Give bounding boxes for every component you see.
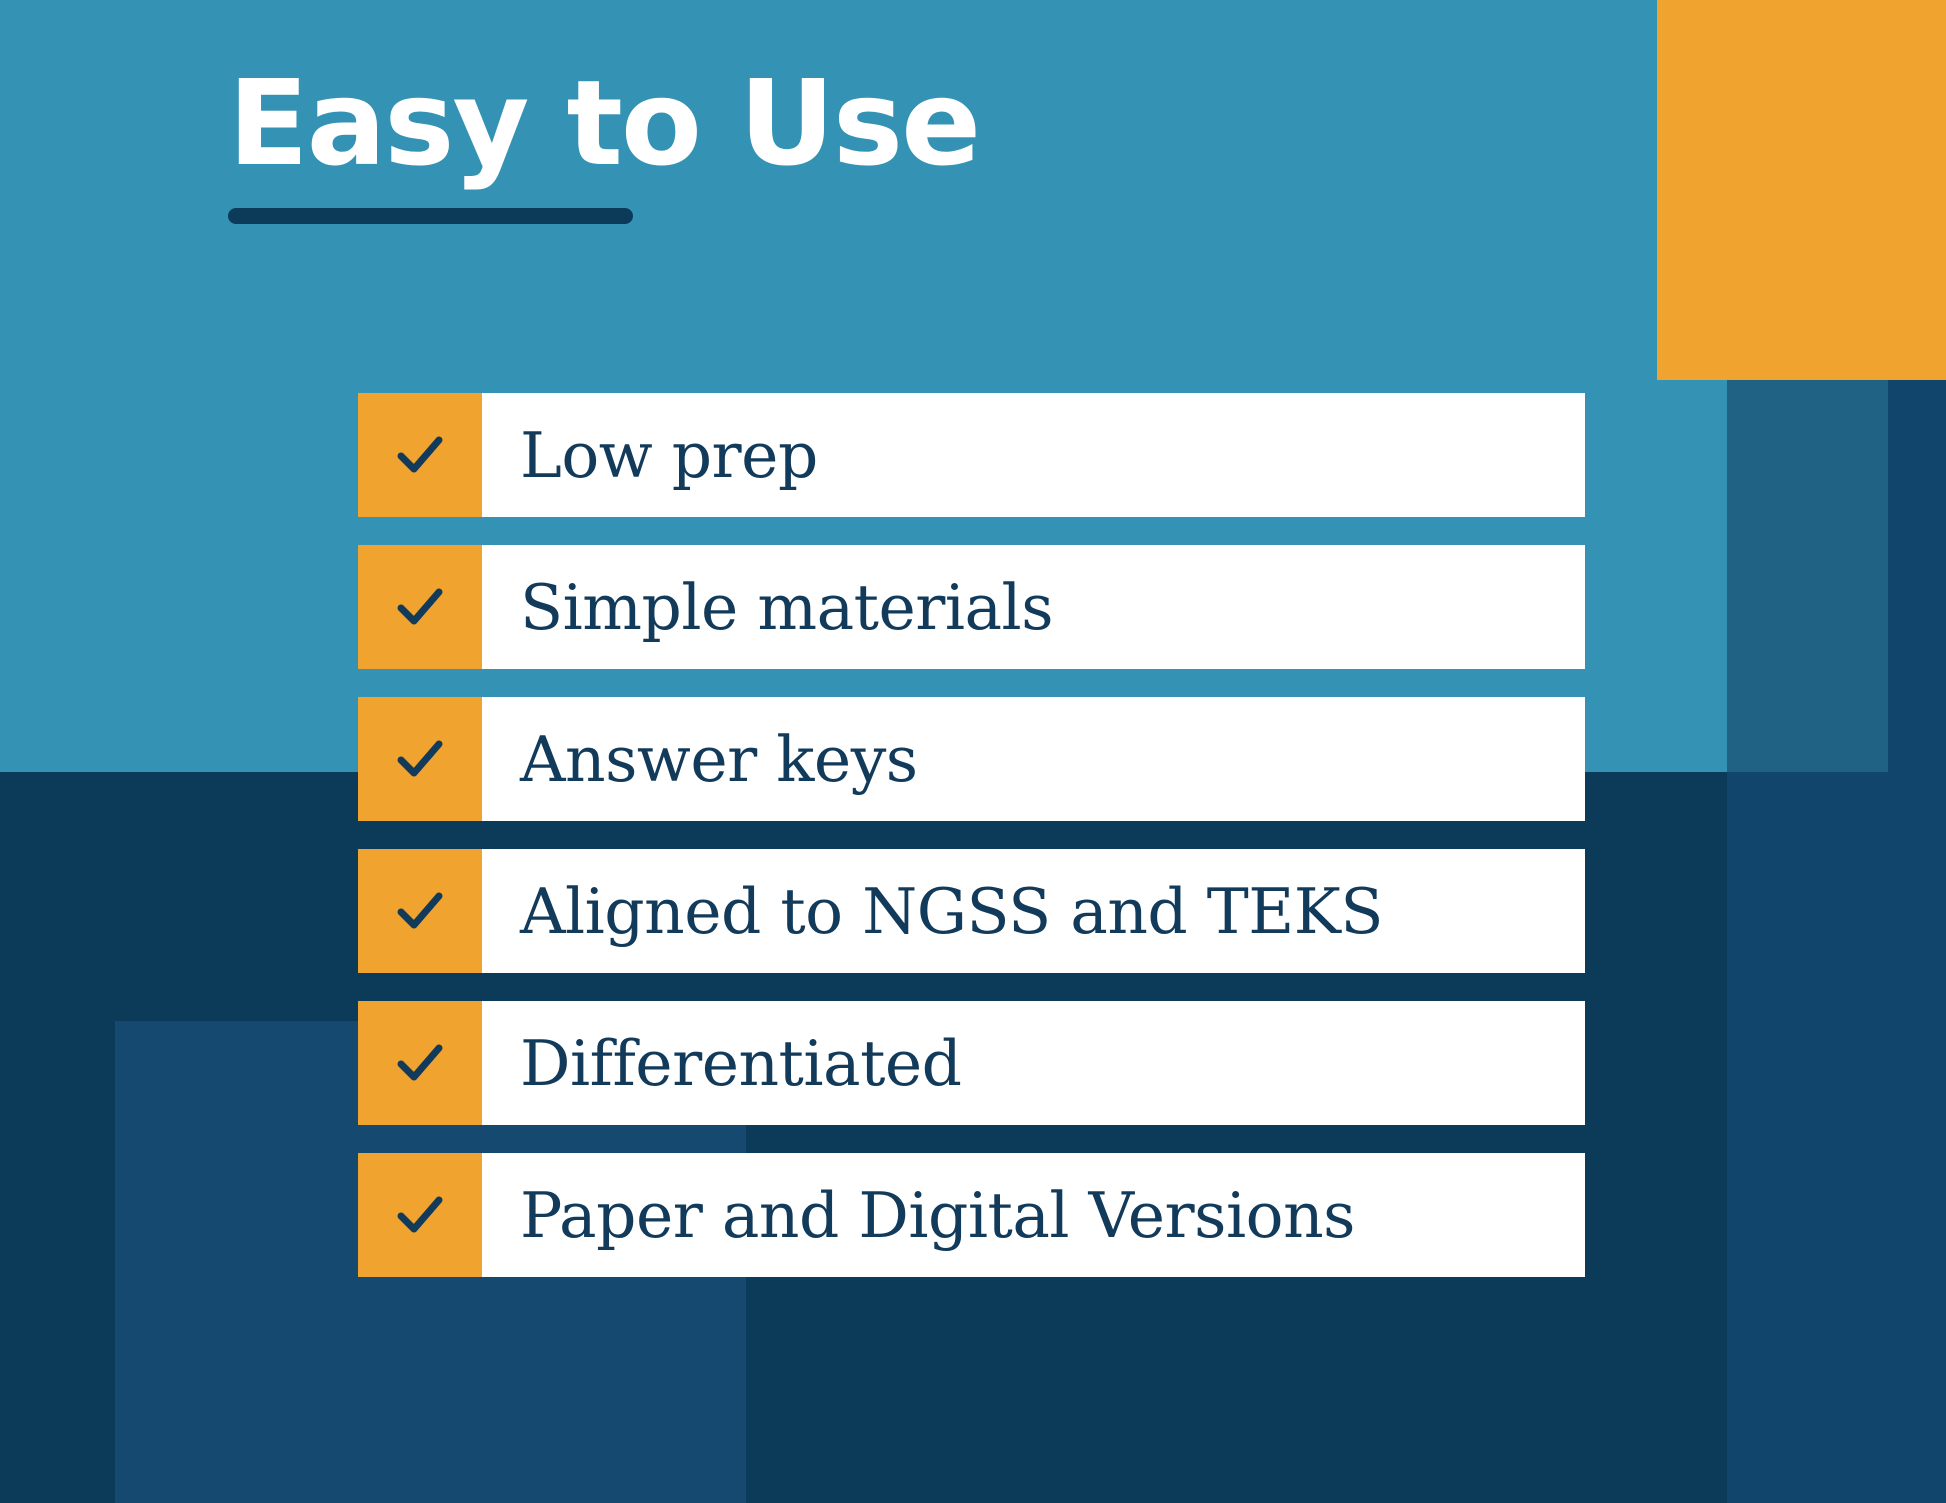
list-item[interactable]: Differentiated — [358, 1001, 1585, 1125]
checkmark-icon — [358, 545, 482, 669]
list-item[interactable]: Low prep — [358, 393, 1585, 517]
title-underline-rule — [228, 208, 633, 224]
list-item[interactable]: Answer keys — [358, 697, 1585, 821]
checkmark-icon — [358, 393, 482, 517]
list-item-label: Low prep — [482, 393, 1585, 517]
list-item-label: Simple materials — [482, 545, 1585, 669]
list-item[interactable]: Simple materials — [358, 545, 1585, 669]
background-navy-right-column — [1888, 380, 1946, 1503]
checklist: Low prep Simple materials Answer keys — [358, 393, 1585, 1277]
list-item-label: Paper and Digital Versions — [482, 1153, 1585, 1277]
page-title: Easy to Use — [228, 62, 1428, 186]
list-item[interactable]: Paper and Digital Versions — [358, 1153, 1585, 1277]
poster-canvas: Easy to Use Low prep Simple materials — [0, 0, 1946, 1503]
checkmark-icon — [358, 849, 482, 973]
checkmark-icon — [358, 1153, 482, 1277]
checkmark-icon — [358, 1001, 482, 1125]
list-item-label: Aligned to NGSS and TEKS — [482, 849, 1585, 973]
list-item-label: Answer keys — [482, 697, 1585, 821]
background-orange-corner — [1657, 0, 1946, 380]
background-midblue-block — [1727, 380, 1888, 772]
checkmark-icon — [358, 697, 482, 821]
background-navy-right-lower — [1727, 772, 1888, 1503]
header: Easy to Use — [228, 62, 1428, 224]
list-item[interactable]: Aligned to NGSS and TEKS — [358, 849, 1585, 973]
list-item-label: Differentiated — [482, 1001, 1585, 1125]
